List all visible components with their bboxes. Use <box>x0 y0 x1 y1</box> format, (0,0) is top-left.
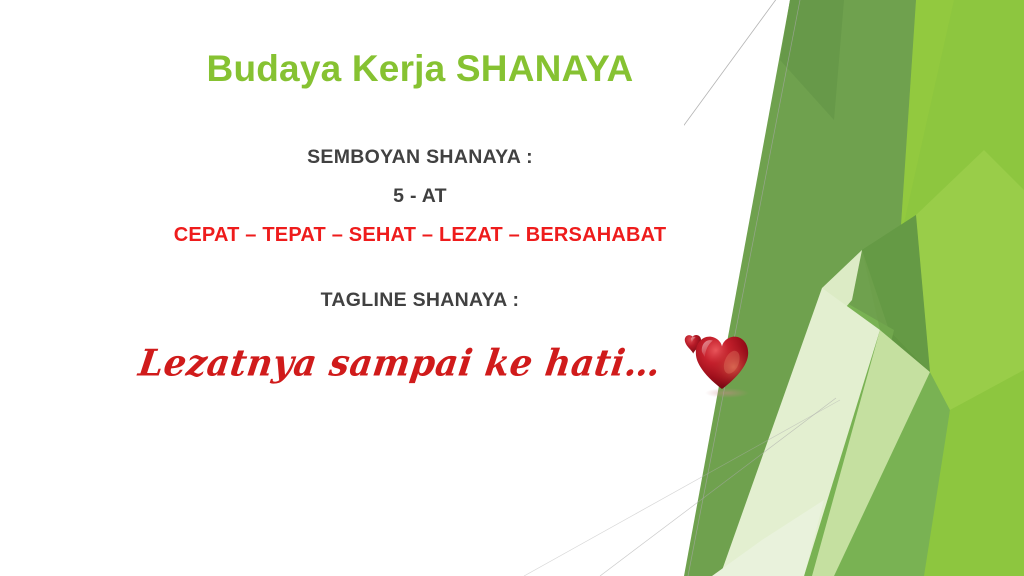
facet-shape-pale-tail <box>712 500 824 576</box>
facet-shape-bright-upper <box>834 0 954 290</box>
page-title: Budaya Kerja SHANAYA <box>0 48 840 90</box>
double-heart-icon <box>683 327 761 399</box>
presentation-slide: Budaya Kerja SHANAYA SEMBOYAN SHANAYA : … <box>0 0 1024 576</box>
hairline-diagonal-shallow-2 <box>524 400 840 576</box>
tagline-script-text: Lezatnya sampai ke hati… <box>136 341 664 384</box>
tagline-row: Lezatnya sampai ke hati… <box>0 327 900 399</box>
facet-shape-bright-lower-right <box>924 370 1024 576</box>
motto-values-label: CEPAT – TEPAT – SEHAT – LEZAT – BERSAHAB… <box>0 225 840 245</box>
double-heart-svg <box>683 327 761 399</box>
facet-shape-overlay-light <box>916 150 1024 410</box>
spacer <box>0 168 840 187</box>
tagline-heading-label: TAGLINE SHANAYA : <box>0 291 840 311</box>
facet-shape-bright-right <box>814 0 1024 576</box>
spacer <box>0 206 840 225</box>
motto-heading-label: SEMBOYAN SHANAYA : <box>0 148 840 168</box>
slide-body-text: SEMBOYAN SHANAYA : 5 - AT CEPAT – TEPAT … <box>0 148 840 311</box>
facet-shape-medium-lower <box>834 372 950 576</box>
hairline-diagonal-shallow <box>600 398 836 576</box>
spacer <box>0 245 840 291</box>
motto-subtitle-label: 5 - AT <box>0 187 840 207</box>
heart-shadow <box>705 388 749 398</box>
